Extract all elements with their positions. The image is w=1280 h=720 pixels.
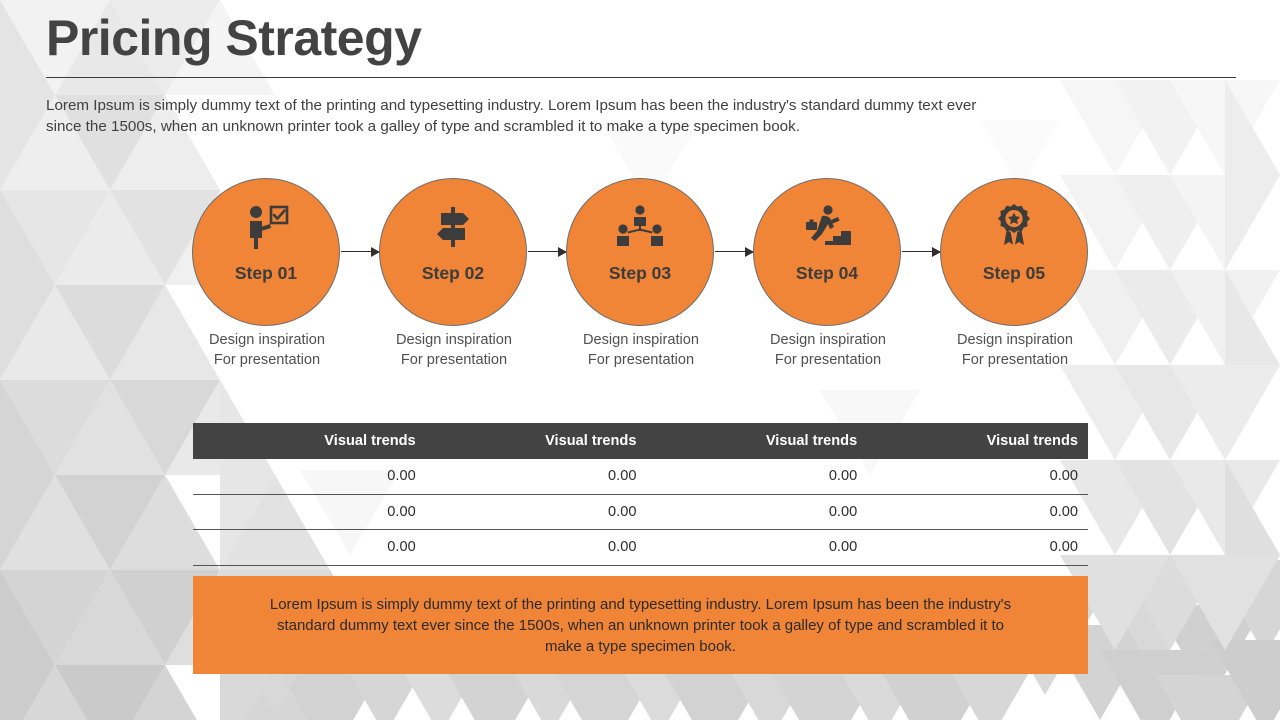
table-cell: 0.00 [646,539,867,555]
table-row: 0.00 0.00 0.00 0.00 [193,495,1088,531]
table-header-cell: Visual trends [426,433,647,449]
step-connector-2-3 [528,251,566,253]
table-cell: 0.00 [646,504,867,520]
footer-note-text: Lorem Ipsum is simply dummy text of the … [261,594,1021,657]
step-caption-3: Design inspiration For presentation [544,330,738,370]
step-caption-1: Design inspiration For presentation [170,330,364,370]
table-row: 0.00 0.00 0.00 0.00 [193,530,1088,566]
step-caption-line2-1: For presentation [170,350,364,370]
step-label-1: Step 01 [193,263,339,284]
step-circle-3[interactable]: Step 03 [566,178,714,326]
footer-note-box: Lorem Ipsum is simply dummy text of the … [193,576,1088,674]
step-caption-2: Design inspiration For presentation [357,330,551,370]
step-item-1[interactable]: Step 01 Design inspiration For presentat… [192,178,342,328]
team-hierarchy-icon [567,201,713,253]
step-caption-line2-2: For presentation [357,350,551,370]
step-caption-line1-3: Design inspiration [544,330,738,350]
table-header-row: Visual trends Visual trends Visual trend… [193,423,1088,459]
intro-paragraph: Lorem Ipsum is simply dummy text of the … [46,96,1006,137]
step-caption-4: Design inspiration For presentation [731,330,925,370]
step-caption-line1-4: Design inspiration [731,330,925,350]
step-caption-line1-1: Design inspiration [170,330,364,350]
step-label-4: Step 04 [754,263,900,284]
title-divider [46,77,1236,78]
person-presenting-checklist-icon [193,201,339,253]
table-header-cell: Visual trends [193,433,426,449]
table-row: 0.00 0.00 0.00 0.00 [193,459,1088,495]
step-circle-2[interactable]: Step 02 [379,178,527,326]
step-caption-line2-3: For presentation [544,350,738,370]
step-label-2: Step 02 [380,263,526,284]
table-cell: 0.00 [646,468,867,484]
step-item-5[interactable]: Step 05 Design inspiration For presentat… [940,178,1090,328]
step-item-2[interactable]: Step 02 Design inspiration For presentat… [379,178,529,328]
visual-trends-table: Visual trends Visual trends Visual trend… [193,423,1088,566]
table-cell: 0.00 [193,504,426,520]
table-cell: 0.00 [426,504,647,520]
step-item-4[interactable]: Step 04 Design inspiration For presentat… [753,178,903,328]
table-cell: 0.00 [867,504,1088,520]
step-circle-1[interactable]: Step 01 [192,178,340,326]
step-connector-4-5 [902,251,940,253]
table-cell: 0.00 [867,468,1088,484]
table-cell: 0.00 [193,539,426,555]
table-cell: 0.00 [426,539,647,555]
table-cell: 0.00 [426,468,647,484]
table-header-cell: Visual trends [646,433,867,449]
table-cell: 0.00 [867,539,1088,555]
step-circle-5[interactable]: Step 05 [940,178,1088,326]
step-label-5: Step 05 [941,263,1087,284]
page-title: Pricing Strategy [46,8,421,68]
step-item-3[interactable]: Step 03 Design inspiration For presentat… [566,178,716,328]
step-caption-line2-5: For presentation [918,350,1112,370]
steps-row: Step 01 Design inspiration For presentat… [0,178,1280,378]
step-connector-1-2 [341,251,379,253]
step-connector-3-4 [715,251,753,253]
step-caption-line2-4: For presentation [731,350,925,370]
table-cell: 0.00 [193,468,426,484]
step-caption-line1-5: Design inspiration [918,330,1112,350]
step-circle-4[interactable]: Step 04 [753,178,901,326]
step-caption-line1-2: Design inspiration [357,330,551,350]
award-ribbon-star-icon [941,201,1087,253]
step-caption-5: Design inspiration For presentation [918,330,1112,370]
table-header-cell: Visual trends [867,433,1088,449]
businessman-climbing-stairs-icon [754,201,900,253]
step-label-3: Step 03 [567,263,713,284]
signpost-direction-icon [380,201,526,253]
